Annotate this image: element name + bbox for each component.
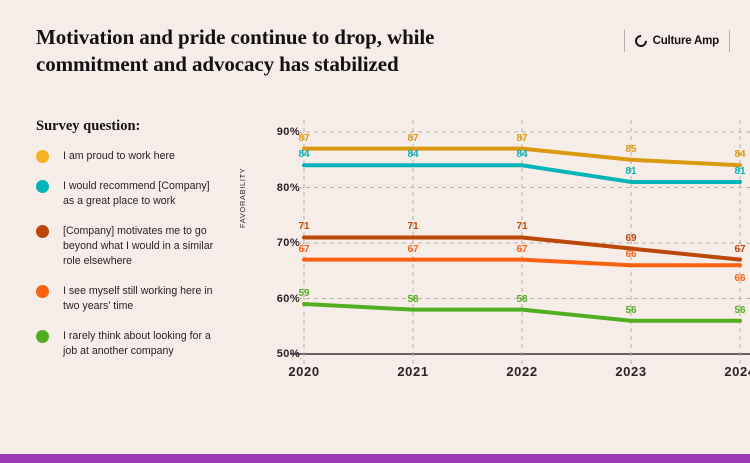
legend-item[interactable]: I rarely think about looking for a job a… <box>36 329 236 359</box>
legend-item[interactable]: I see myself still working here in two y… <box>36 284 236 314</box>
x-axis-tick-label: 2020 <box>288 364 319 379</box>
legend-item-label: I rarely think about looking for a job a… <box>63 329 223 359</box>
x-axis-tick-label: 2024 <box>724 364 750 379</box>
chart-page: Motivation and pride continue to drop, w… <box>0 0 750 463</box>
data-point-label: 67 <box>516 244 527 255</box>
data-point-label: 58 <box>516 294 527 305</box>
legend-color-dot <box>36 225 49 238</box>
legend-item-label: I am proud to work here <box>63 149 175 164</box>
data-point-label: 58 <box>407 294 418 305</box>
brand-name: Culture Amp <box>653 35 719 47</box>
data-point-label: 71 <box>516 221 527 232</box>
legend-item-label: I see myself still working here in two y… <box>63 284 223 314</box>
legend-item[interactable]: [Company] motivates me to go beyond what… <box>36 224 236 269</box>
data-point-label: 66 <box>625 249 636 260</box>
legend-title: Survey question: <box>36 118 236 135</box>
data-point-label: 85 <box>625 144 636 155</box>
data-point-label: 67 <box>407 244 418 255</box>
x-axis-tick-label: 2021 <box>397 364 428 379</box>
legend-item-label: I would recommend [Company] as a great p… <box>63 179 223 209</box>
data-point-label: 67 <box>734 244 745 255</box>
plot-area: 50%60%70%80%90% 20202021202220232024 878… <box>232 132 740 387</box>
data-point-label: 71 <box>407 221 418 232</box>
brand-logo: Culture Amp <box>624 30 730 52</box>
legend-item[interactable]: I would recommend [Company] as a great p… <box>36 179 236 209</box>
data-point-label: 81 <box>625 166 636 177</box>
data-point-label: 71 <box>298 221 309 232</box>
data-point-label: 69 <box>625 233 636 244</box>
data-point-label: 87 <box>298 133 309 144</box>
line-chart: FAVORABILITY 50%60%70%80%90% 20202021202… <box>232 132 740 387</box>
legend-color-dot <box>36 285 49 298</box>
data-point-label: 56 <box>734 305 745 316</box>
x-axis-tick-label: 2023 <box>615 364 646 379</box>
page-title: Motivation and pride continue to drop, w… <box>36 24 506 78</box>
data-point-label: 84 <box>407 149 418 160</box>
legend-item-label: [Company] motivates me to go beyond what… <box>63 224 223 269</box>
legend-item-list: I am proud to work hereI would recommend… <box>36 149 236 359</box>
data-point-label: 56 <box>625 305 636 316</box>
data-point-label: 67 <box>298 244 309 255</box>
data-point-label: 81 <box>734 166 745 177</box>
culture-amp-c-icon <box>632 33 649 50</box>
data-point-label: 87 <box>516 133 527 144</box>
data-point-label: 87 <box>407 133 418 144</box>
legend-color-dot <box>36 330 49 343</box>
legend-item[interactable]: I am proud to work here <box>36 149 236 164</box>
legend: Survey question: I am proud to work here… <box>36 118 236 374</box>
x-axis-tick-label: 2022 <box>506 364 537 379</box>
data-point-label: 59 <box>298 288 309 299</box>
data-point-label: 84 <box>516 149 527 160</box>
data-point-label: 84 <box>298 149 309 160</box>
data-point-label: 66 <box>734 273 745 284</box>
legend-color-dot <box>36 150 49 163</box>
data-point-label: 84 <box>734 149 745 160</box>
footer-accent-bar <box>0 454 750 463</box>
legend-color-dot <box>36 180 49 193</box>
